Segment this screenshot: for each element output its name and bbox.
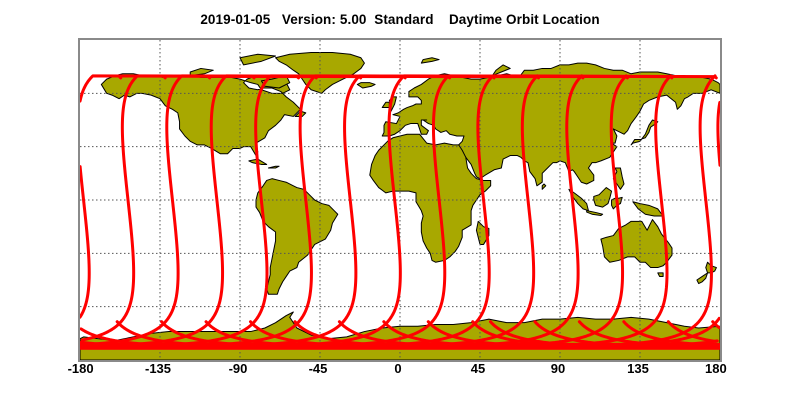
orbit-track-path [473,76,715,346]
orbit-track-path [206,76,672,346]
x-tick-label: 45 [471,362,485,375]
x-tick-label: -90 [229,362,248,375]
x-tick-label: 90 [551,362,565,375]
chart-title: 2019-01-05 Version: 5.00 Standard Daytim… [0,12,800,27]
orbit-location-figure: 2019-01-05 Version: 5.00 Standard Daytim… [0,0,800,400]
orbit-track-path [384,76,626,346]
orbit-track-path [339,76,581,346]
x-tick-label: 180 [705,362,727,375]
x-tick-label: -45 [309,362,328,375]
x-tick-label: 135 [627,362,649,375]
orbit-track-path [120,77,121,78]
orbit-track-path [250,76,716,346]
orbit-track-group [80,76,720,350]
orbit-track-path [164,77,165,78]
orbit-track-path [297,77,298,78]
x-axis-tick-labels: -180-135-90-4504590135180 [0,362,800,386]
x-tick-label: 0 [394,362,401,375]
plot-frame [78,38,722,362]
orbit-track-path [117,76,583,346]
orbit-track-path [81,76,494,346]
orbit-track-path [208,77,209,78]
orbit-track-path [80,76,316,101]
orbit-track-path [81,76,538,346]
orbit-track-path [428,76,670,346]
orbit-track-path [668,322,715,342]
x-tick-label: -180 [68,362,94,375]
polar-convergence-band [80,343,720,350]
orbit-track-path [718,102,720,165]
orbit-ground-tracks [80,40,720,360]
plot-area [80,40,720,360]
y-axis-tick-labels: 9060300-30-60-90 [0,0,72,400]
x-tick-label: -135 [145,362,171,375]
orbit-track-path [80,167,89,318]
orbit-track-path [253,77,254,78]
orbit-track-path [162,76,628,346]
orbit-track-path [295,76,537,346]
